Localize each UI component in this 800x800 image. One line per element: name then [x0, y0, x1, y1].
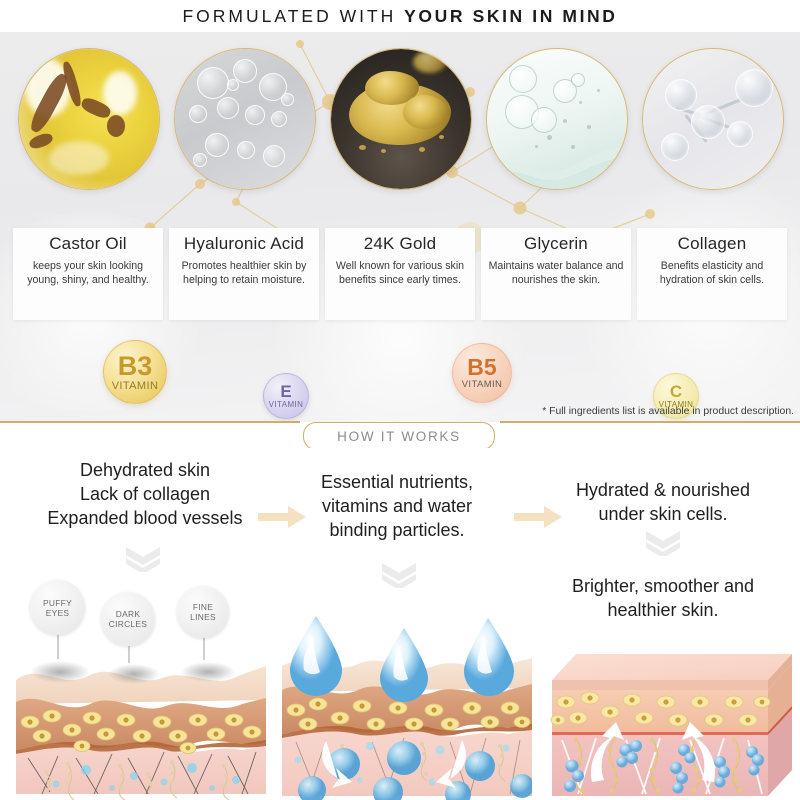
ingredient-card: Hyaluronic Acid Promotes healthier skin …: [169, 228, 319, 320]
concern-label: PUFFY EYES: [43, 598, 72, 618]
concern-bubble-puffy-eyes: PUFFY EYES: [30, 580, 85, 635]
page-title: FORMULATED WITH YOUR SKIN IN MIND: [182, 6, 617, 27]
how-it-works-label: HOW IT WORKS: [337, 429, 461, 444]
ingredient-cards-row: Castor Oil keeps your skin looking young…: [0, 228, 800, 322]
chevron-down-1: [124, 546, 162, 572]
ingredient-name: Hyaluronic Acid: [184, 234, 304, 254]
vitamin-badge-b5: B5 VITAMIN: [452, 343, 512, 403]
divider-rule-right: [500, 421, 800, 423]
ingredient-name: Castor Oil: [49, 234, 127, 254]
ingredient-card: 24K Gold Well known for various skin ben…: [325, 228, 475, 320]
vitamin-label: VITAMIN: [112, 381, 159, 392]
ingredient-card: Glycerin Maintains water balance and nou…: [481, 228, 631, 320]
header-prefix: FORMULATED WITH: [182, 6, 404, 26]
skin-diagram-healthy: [548, 646, 798, 800]
ingredient-photo-collagen: [642, 48, 784, 190]
ingredients-section: Castor Oil keeps your skin looking young…: [0, 32, 800, 422]
ingredient-card: Collagen Benefits elasticity and hydrati…: [637, 228, 787, 320]
ingredient-name: Collagen: [678, 234, 747, 254]
vitamin-badge-b3: B3 VITAMIN: [103, 340, 167, 404]
ingredient-photo-castor-oil: [18, 48, 160, 190]
vitamin-badge-e: E VITAMIN: [263, 373, 309, 419]
step-3-secondary-text: Brighter, smoother and healthier skin.: [528, 574, 798, 622]
concern-label: FINE LINES: [190, 602, 216, 622]
ingredient-photo-row: [0, 32, 800, 232]
vitamin-label: VITAMIN: [462, 380, 503, 390]
step-3-secondary: Brighter, smoother and healthier skin.: [528, 574, 798, 622]
vitamin-label: VITAMIN: [269, 401, 304, 409]
ingredient-name: Glycerin: [524, 234, 588, 254]
skin-diagram-absorbing: [282, 614, 532, 800]
divider-rule-left: [0, 421, 300, 423]
concern-bubble-fine-lines: FINE LINES: [177, 586, 229, 638]
skin-diagram-dehydrated: [16, 646, 266, 800]
ingredient-description: Promotes healthier skin by helping to re…: [169, 259, 319, 287]
step-1: Dehydrated skin Lack of collagen Expande…: [10, 458, 280, 530]
chevron-down-3: [644, 530, 682, 556]
step-2-text: Essential nutrients, vitamins and water …: [262, 470, 532, 542]
ingredient-description: Maintains water balance and nourishes th…: [481, 259, 631, 287]
header-banner: FORMULATED WITH YOUR SKIN IN MIND: [0, 0, 800, 32]
ingredient-description: keeps your skin looking young, shiny, an…: [13, 259, 163, 287]
ingredient-card: Castor Oil keeps your skin looking young…: [13, 228, 163, 320]
step-2: Essential nutrients, vitamins and water …: [262, 470, 532, 542]
ingredient-photo-hyaluronic-acid: [174, 48, 316, 190]
infographic-page: FORMULATED WITH YOUR SKIN IN MIND: [0, 0, 800, 800]
step-1-text: Dehydrated skin Lack of collagen Expande…: [10, 458, 280, 530]
vitamin-code: B3: [118, 353, 153, 380]
header-emphasis: YOUR SKIN IN MIND: [404, 6, 617, 26]
ingredients-footnote: * Full ingredients list is available in …: [542, 406, 794, 417]
chevron-down-2: [380, 562, 418, 588]
concern-bubble-dark-circles: DARK CIRCLES: [101, 592, 155, 646]
how-it-works-badge: HOW IT WORKS: [303, 422, 495, 450]
vitamin-code: E: [280, 383, 291, 400]
vitamin-code: C: [670, 383, 682, 400]
concern-label: DARK CIRCLES: [109, 609, 147, 629]
how-it-works-section: Dehydrated skin Lack of collagen Expande…: [0, 448, 800, 800]
vitamin-code: B5: [467, 356, 496, 379]
ingredient-photo-24k-gold: [330, 48, 472, 190]
ingredient-photo-glycerin: [486, 48, 628, 190]
step-3: Hydrated & nourished under skin cells.: [528, 478, 798, 526]
ingredient-description: Benefits elasticity and hydration of ski…: [637, 259, 787, 287]
ingredient-name: 24K Gold: [364, 234, 436, 254]
step-3-text: Hydrated & nourished under skin cells.: [528, 478, 798, 526]
ingredient-description: Well known for various skin benefits sin…: [325, 259, 475, 287]
